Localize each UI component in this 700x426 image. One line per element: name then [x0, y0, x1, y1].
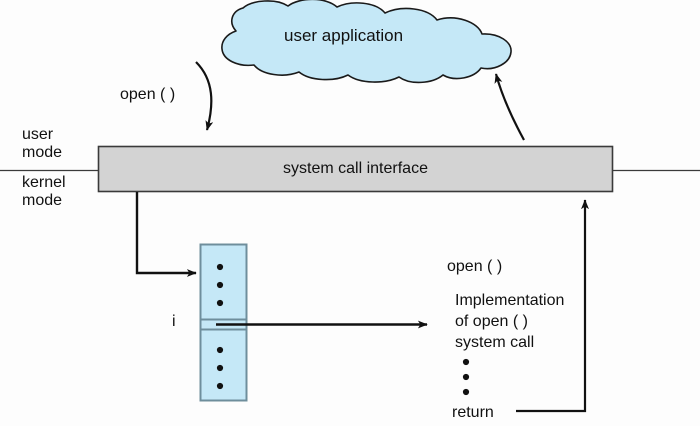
table-index-label: i — [172, 313, 176, 331]
table-dot — [217, 300, 223, 306]
table-dot — [217, 383, 223, 389]
kernel-mode-label: kernel mode — [22, 174, 66, 211]
return-label: return — [452, 404, 494, 422]
cloud-label: user application — [284, 26, 403, 46]
table-dot — [217, 347, 223, 353]
impl-dot — [463, 359, 469, 365]
open-call-label: open ( ) — [120, 86, 175, 104]
impl-dot — [463, 374, 469, 380]
system-call-table — [201, 245, 247, 401]
impl-dot — [463, 389, 469, 395]
table-dot — [217, 282, 223, 288]
user-mode-label: user mode — [22, 126, 62, 163]
diagram-canvas — [0, 0, 700, 426]
syscall-diagram: user application open ( ) user mode kern… — [0, 0, 700, 426]
system-call-interface-label: system call interface — [98, 160, 613, 178]
implementation-label: Implementation of open ( ) system call — [455, 290, 564, 353]
open-impl-title-label: open ( ) — [447, 258, 502, 276]
table-dot — [217, 264, 223, 270]
return-up-arrow — [496, 74, 524, 140]
dispatch-arrow — [137, 192, 196, 273]
table-dot — [217, 365, 223, 371]
call-down-arrow — [196, 62, 211, 130]
